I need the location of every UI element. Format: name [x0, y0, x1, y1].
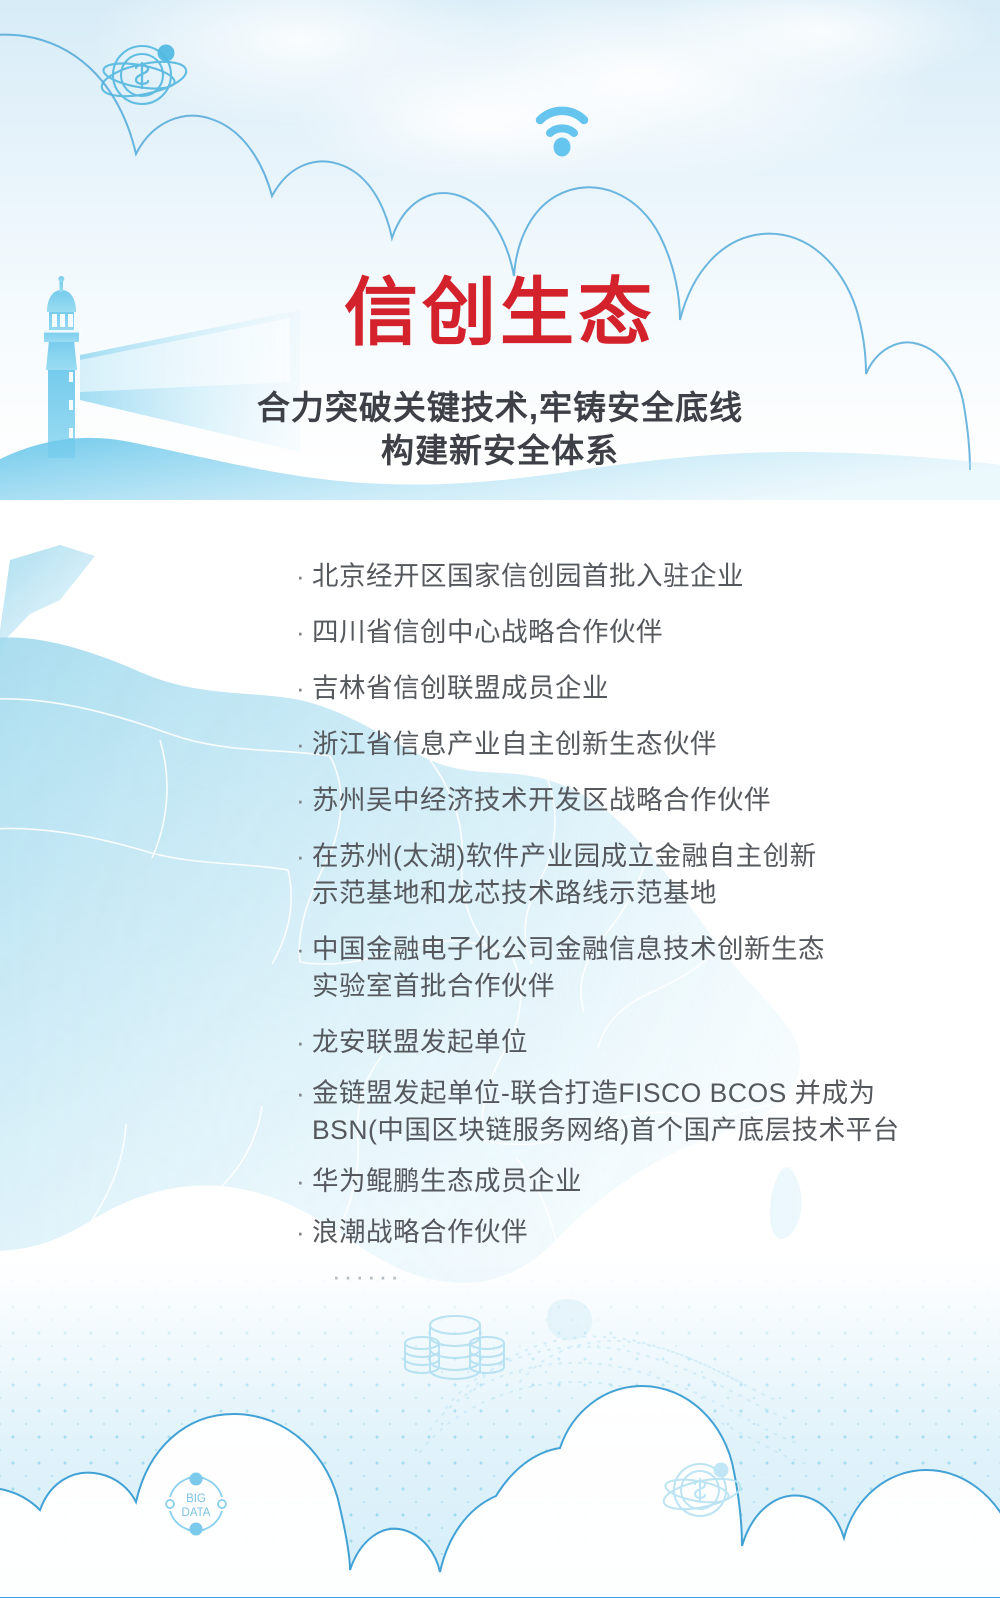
list-item: · 北京经开区国家信创园首批入驻企业 — [296, 558, 956, 595]
bullet-dot: · — [296, 558, 312, 595]
list-item-label: 龙安联盟发起单位 — [312, 1024, 956, 1061]
list-item: · 吉林省信创联盟成员企业 — [296, 670, 956, 707]
list-item: · 苏州吴中经济技术开发区战略合作伙伴 — [296, 782, 956, 819]
list-item-label: 浙江省信息产业自主创新生态伙伴 — [312, 726, 956, 763]
list-item-label: 中国金融电子化公司金融信息技术创新生态 实验室首批合作伙伴 — [312, 931, 956, 1005]
bullet-dot: · — [296, 670, 312, 707]
list-item: · 四川省信创中心战略合作伙伴 — [296, 614, 956, 651]
list-item: · 在苏州(太湖)软件产业园成立金融自主创新 示范基地和龙芯技术路线示范基地 — [296, 838, 956, 912]
list-item: · 浪潮战略合作伙伴 — [296, 1214, 956, 1251]
poster-canvas: 信创生态 合力突破关键技术,牢铸安全底线 构建新安全体系 · 北京经开区国家信创… — [0, 0, 1000, 1598]
bottom-dot-texture — [0, 1268, 1000, 1598]
bullet-dot: · — [296, 726, 312, 763]
list-item-label: 在苏州(太湖)软件产业园成立金融自主创新 示范基地和龙芯技术路线示范基地 — [312, 838, 956, 912]
page-subtitle: 合力突破关键技术,牢铸安全底线 构建新安全体系 — [0, 386, 1000, 472]
subtitle-line-1: 合力突破关键技术,牢铸安全底线 — [0, 386, 1000, 429]
bullet-dot: · — [296, 931, 312, 968]
bullet-dot: · — [296, 1214, 312, 1251]
bullet-dot: · — [296, 1163, 312, 1200]
list-item-label: 华为鲲鹏生态成员企业 — [312, 1163, 956, 1200]
credentials-list: · 北京经开区国家信创园首批入驻企业 · 四川省信创中心战略合作伙伴 · 吉林省… — [296, 558, 956, 1292]
bullet-dot: · — [296, 838, 312, 875]
bullet-dot: · — [296, 1075, 312, 1112]
page-title: 信创生态 — [0, 276, 1000, 350]
list-item: · 龙安联盟发起单位 — [296, 1024, 956, 1061]
subtitle-line-2: 构建新安全体系 — [0, 429, 1000, 472]
list-item-label: 四川省信创中心战略合作伙伴 — [312, 614, 956, 651]
list-item-label: 吉林省信创联盟成员企业 — [312, 670, 956, 707]
list-item: · 金链盟发起单位-联合打造FISCO BCOS 并成为 BSN(中国区块链服务… — [296, 1075, 956, 1149]
list-item-label: 浪潮战略合作伙伴 — [312, 1214, 956, 1251]
list-item-label: 北京经开区国家信创园首批入驻企业 — [312, 558, 956, 595]
bullet-dot: · — [296, 782, 312, 819]
list-item: · 浙江省信息产业自主创新生态伙伴 — [296, 726, 956, 763]
list-item-label: 苏州吴中经济技术开发区战略合作伙伴 — [312, 782, 956, 819]
bullet-dot: · — [296, 1024, 312, 1061]
sky-soft-clouds — [0, 0, 1000, 300]
list-item-label: 金链盟发起单位-联合打造FISCO BCOS 并成为 BSN(中国区块链服务网络… — [312, 1075, 956, 1149]
bullet-dot: · — [296, 614, 312, 651]
list-item: · 中国金融电子化公司金融信息技术创新生态 实验室首批合作伙伴 — [296, 931, 956, 1005]
list-item: · 华为鲲鹏生态成员企业 — [296, 1163, 956, 1200]
